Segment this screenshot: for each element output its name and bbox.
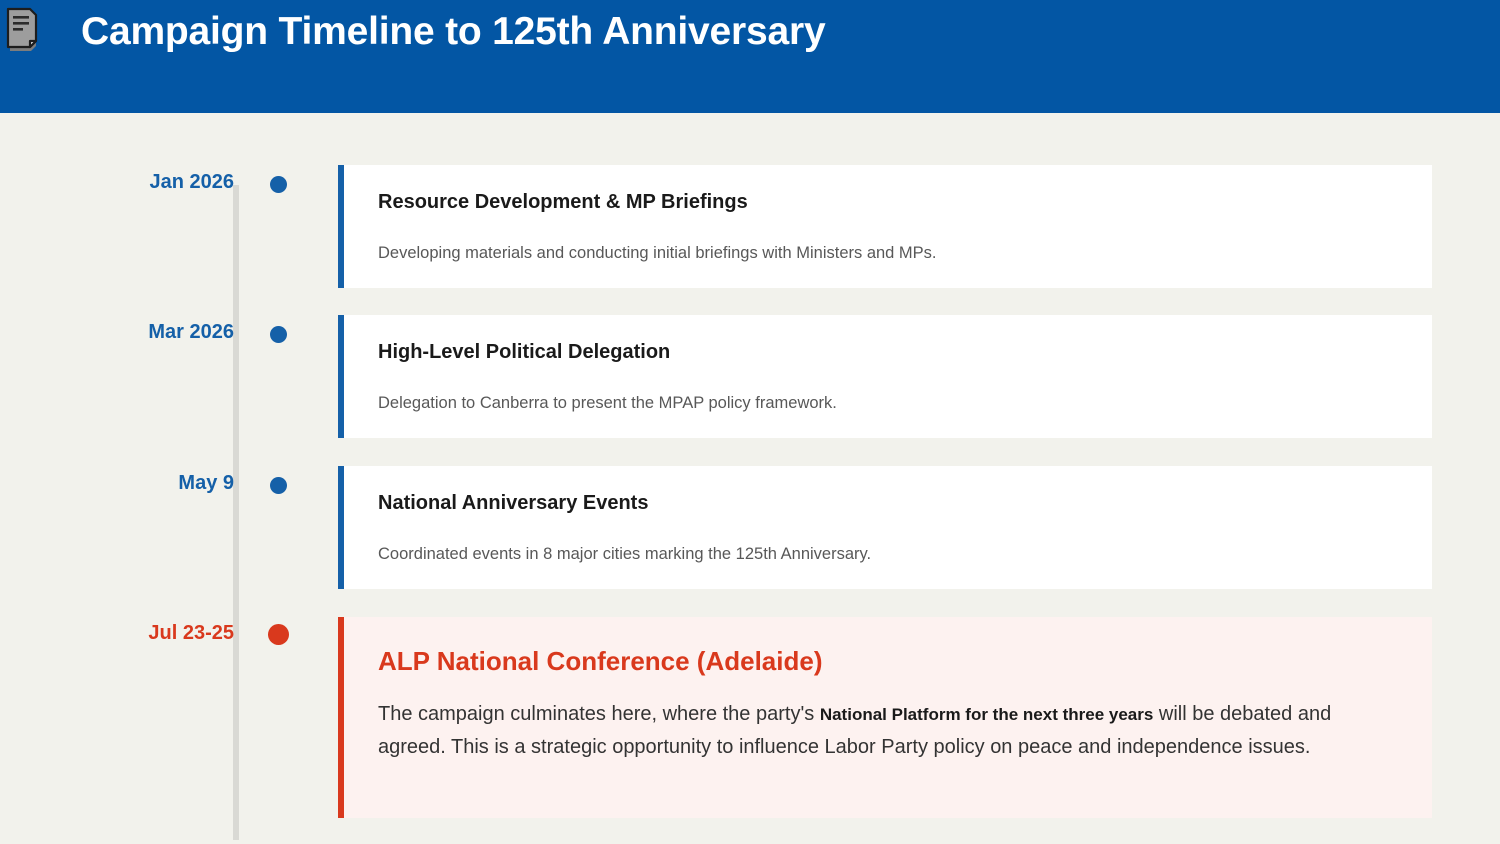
timeline-entry-title: ALP National Conference (Adelaide) [378,646,823,677]
timeline-entry-title: High-Level Political Delegation [378,341,670,364]
timeline-entry-description: Coordinated events in 8 major cities mar… [378,542,871,566]
timeline-axis-line [233,185,239,840]
page-header: Campaign Timeline to 125th Anniversary [0,0,1500,113]
document-icon [6,7,42,51]
timeline-entry-card[interactable]: High-Level Political Delegation Delegati… [338,315,1432,438]
timeline-marker-dot[interactable] [270,477,287,494]
timeline-marker-dot[interactable] [270,176,287,193]
timeline-marker-dot[interactable] [268,624,289,645]
timeline-entry-card[interactable]: National Anniversary Events Coordinated … [338,466,1432,589]
timeline-entry-description: Developing materials and conducting init… [378,241,937,265]
timeline-entry-description: Delegation to Canberra to present the MP… [378,391,837,415]
page-title: Campaign Timeline to 125th Anniversary [81,6,825,58]
timeline-entry-title: Resource Development & MP Briefings [378,191,748,214]
timeline-marker-dot[interactable] [270,326,287,343]
timeline-entry-card[interactable]: Resource Development & MP Briefings Deve… [338,165,1432,288]
timeline-entry-date: Jul 23-25 [0,622,234,645]
description-text-emphasis: National Platform for the next three yea… [820,705,1153,724]
timeline-entry-card[interactable]: ALP National Conference (Adelaide) The c… [338,617,1432,818]
timeline-entry-date: Mar 2026 [0,321,234,344]
timeline-entry-date: Jan 2026 [0,171,234,194]
description-text-lead: The campaign culminates here, where the … [378,703,820,725]
timeline-entry-date: May 9 [0,472,234,495]
timeline-entry-description: The campaign culminates here, where the … [378,698,1388,764]
timeline-entry-title: National Anniversary Events [378,492,648,515]
timeline: Jan 2026 Resource Development & MP Brief… [0,113,1500,844]
